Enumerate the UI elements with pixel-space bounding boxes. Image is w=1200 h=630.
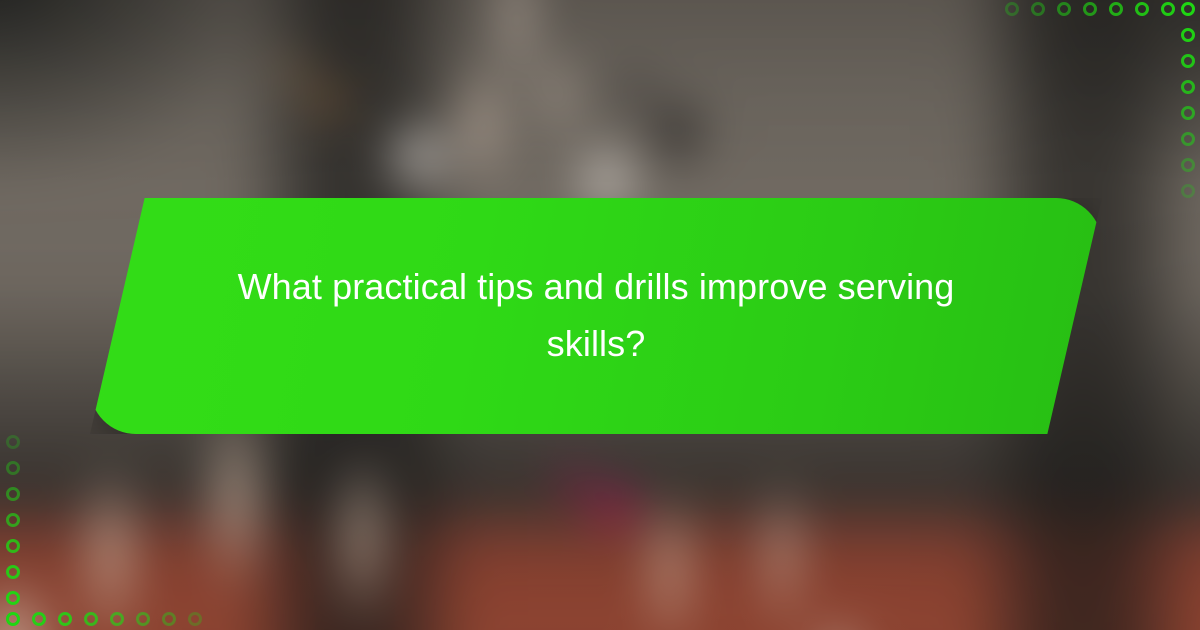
decorative-dot — [6, 487, 20, 501]
decorative-dot — [110, 612, 124, 626]
decorative-dot — [58, 612, 72, 626]
decorative-dot — [1031, 2, 1045, 16]
decorative-dot — [6, 539, 20, 553]
decorative-dot — [6, 461, 20, 475]
decorative-dot — [1181, 2, 1195, 16]
decorative-dot — [32, 612, 46, 626]
decorative-dot — [1181, 132, 1195, 146]
decorative-dot — [84, 612, 98, 626]
decorative-dot — [1135, 2, 1149, 16]
decorative-dot — [136, 612, 150, 626]
decorative-dot — [1057, 2, 1071, 16]
question-card-stage: What practical tips and drills improve s… — [0, 0, 1200, 630]
question-card-wrapper: What practical tips and drills improve s… — [90, 198, 1102, 434]
decorative-dot — [1181, 28, 1195, 42]
decorative-dot — [6, 435, 20, 449]
decorative-dot — [1005, 2, 1019, 16]
question-text: What practical tips and drills improve s… — [210, 259, 982, 373]
decorative-dot — [6, 513, 20, 527]
decorative-dot — [1161, 2, 1175, 16]
decorative-dot — [1181, 184, 1195, 198]
decorative-dot — [6, 612, 20, 626]
decorative-dot — [1181, 54, 1195, 68]
decorative-dot — [1181, 106, 1195, 120]
question-card-inner: What practical tips and drills improve s… — [90, 198, 1102, 434]
decorative-dot — [6, 591, 20, 605]
decorative-dot — [6, 565, 20, 579]
decorative-dot — [1181, 80, 1195, 94]
decorative-dot — [1083, 2, 1097, 16]
decorative-dot — [1109, 2, 1123, 16]
decorative-dot — [188, 612, 202, 626]
question-card: What practical tips and drills improve s… — [90, 198, 1102, 434]
decorative-dot — [162, 612, 176, 626]
decorative-dot — [1181, 158, 1195, 172]
